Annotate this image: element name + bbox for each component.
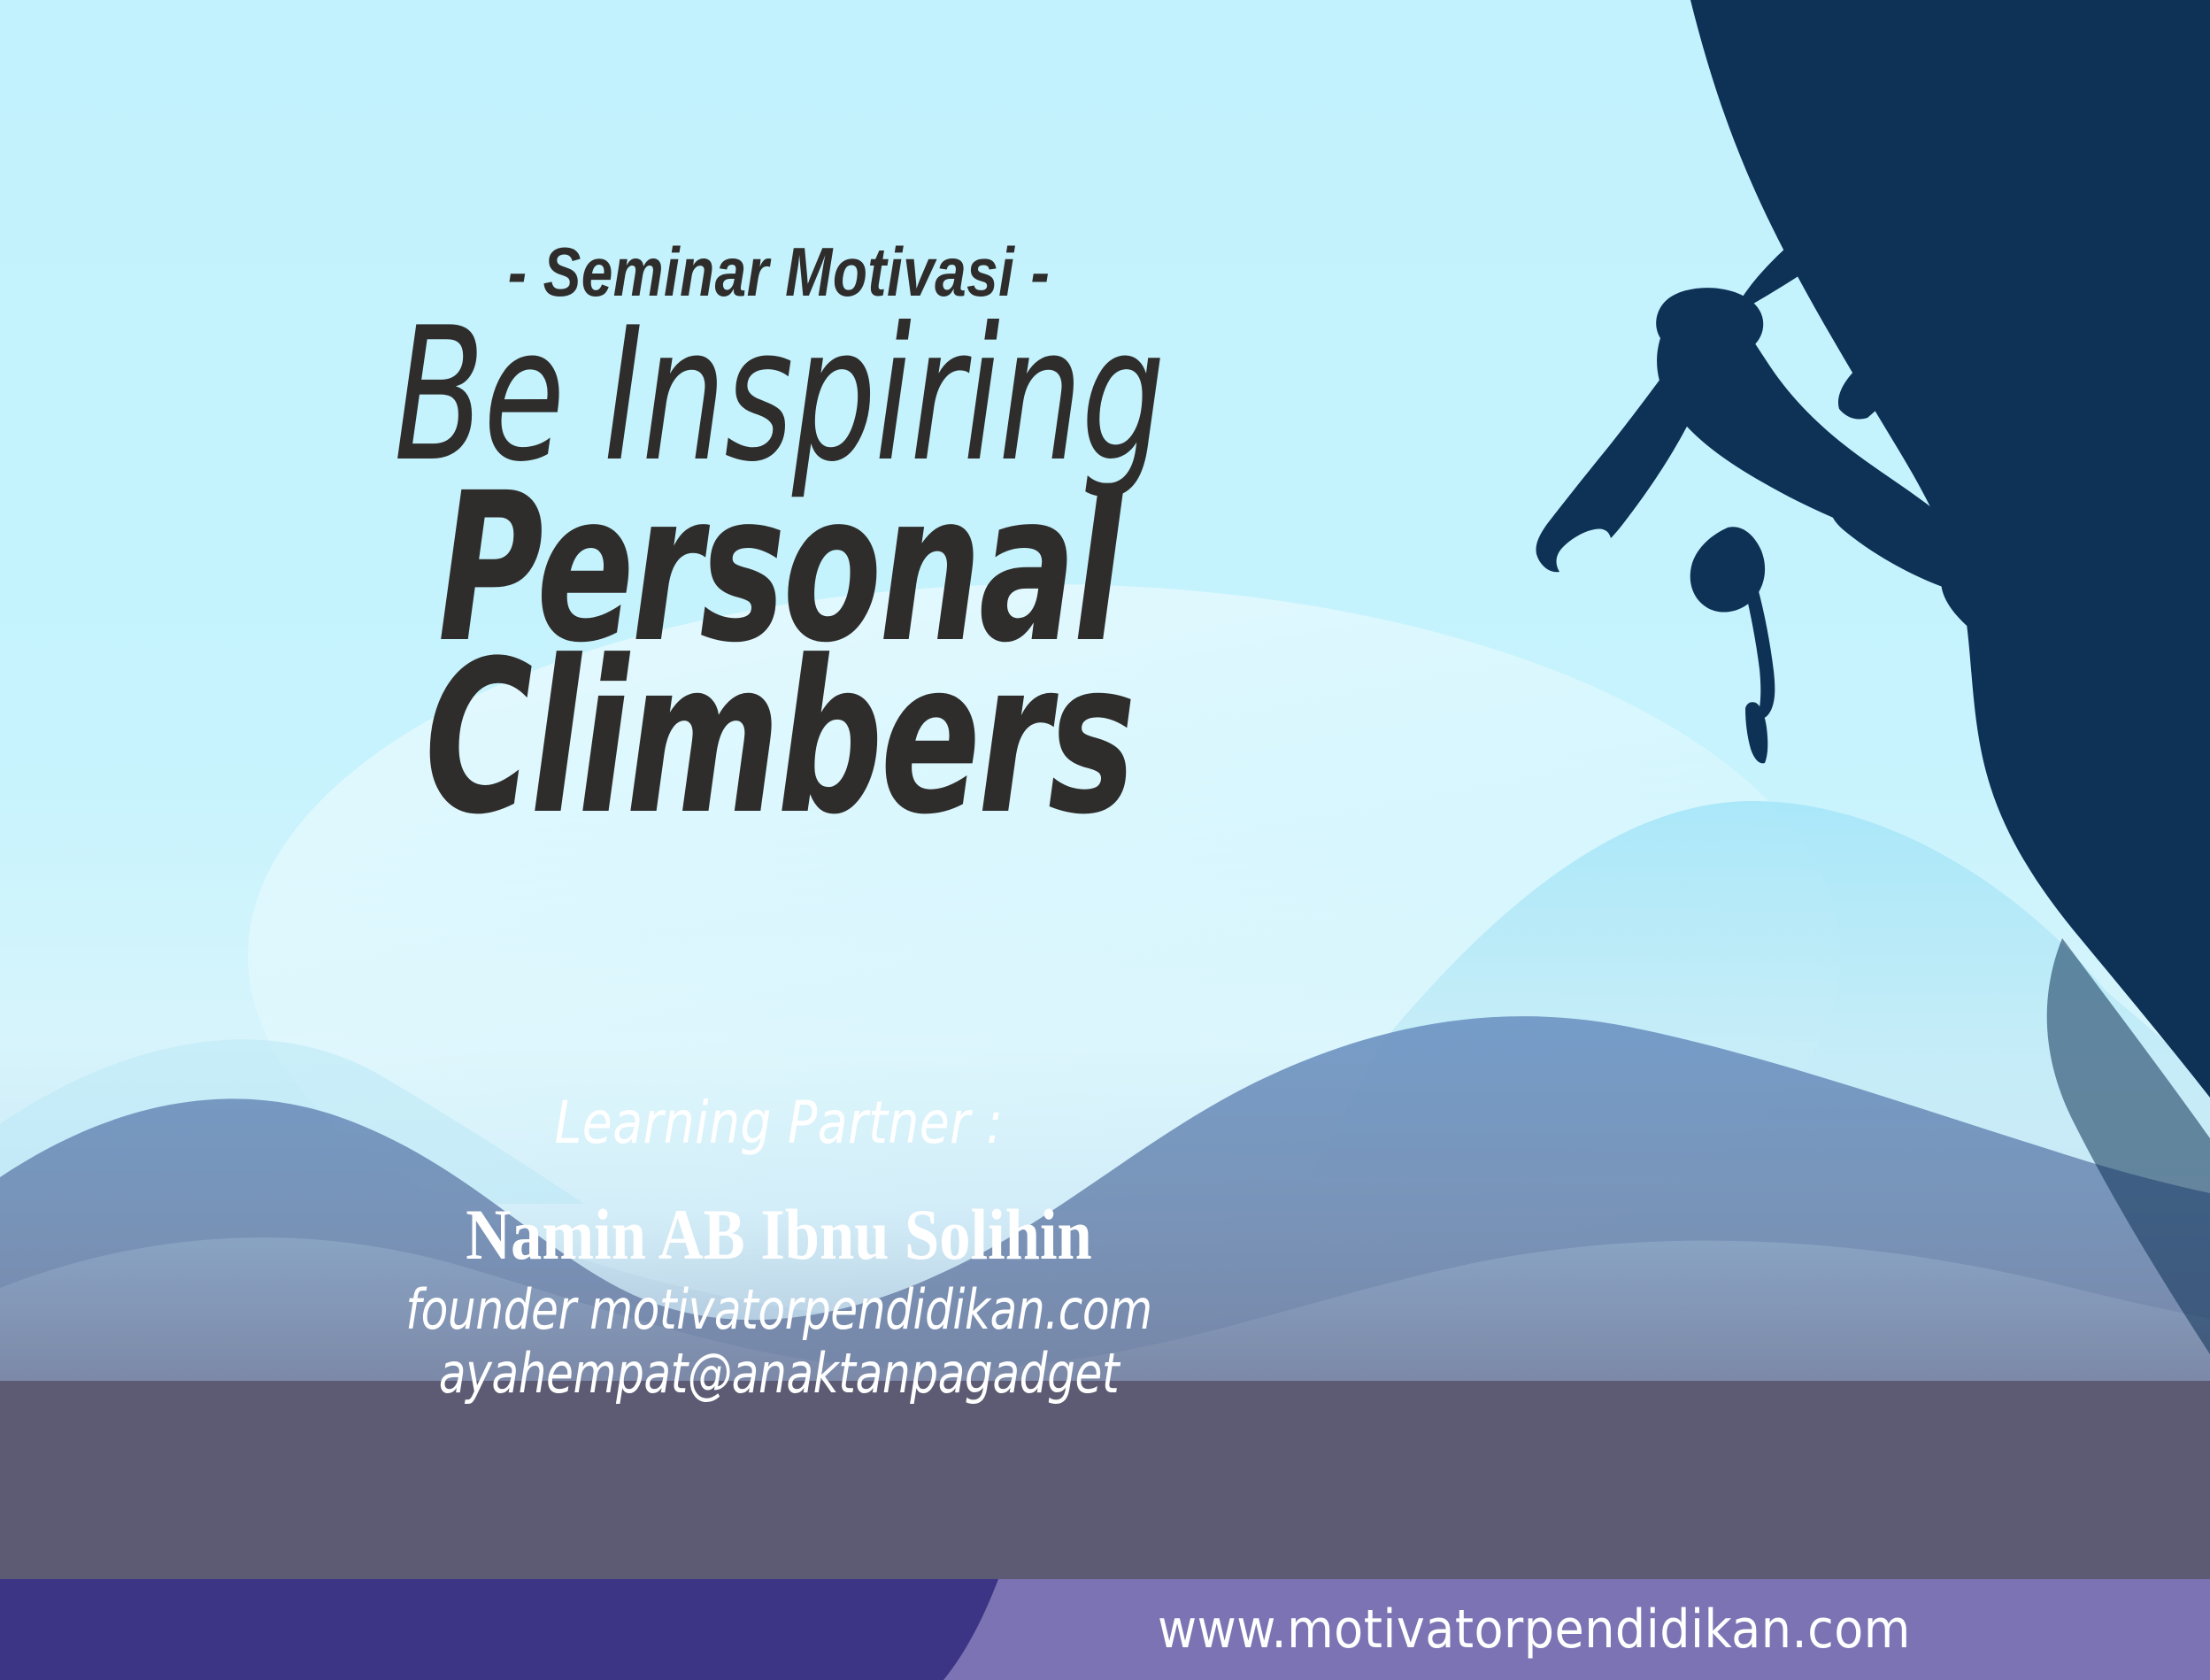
title-line-climbers: Climbers bbox=[172, 649, 1387, 830]
speaker-block: Learning Partner : Namin AB Ibnu Solihin… bbox=[0, 1094, 1558, 1406]
speaker-name: Namin AB Ibnu Solihin bbox=[109, 1198, 1449, 1271]
seminar-poster: - Seminar Motivasi - Be Inspiring Person… bbox=[0, 0, 2210, 1680]
learning-partner-label: Learning Partner : bbox=[55, 1094, 1504, 1152]
speaker-email: ayahempat@anaktanpagadget bbox=[78, 1342, 1480, 1406]
footer-website-url[interactable]: www.motivatorpendidikan.com bbox=[1158, 1579, 1911, 1680]
footer-bar: www.motivatorpendidikan.com bbox=[0, 1579, 2210, 1680]
speaker-role: founder motivatorpendidikan.com bbox=[78, 1278, 1480, 1342]
footer-band-left bbox=[0, 1579, 998, 1680]
headline-block: - Seminar Motivasi - Be Inspiring Person… bbox=[0, 237, 1558, 830]
